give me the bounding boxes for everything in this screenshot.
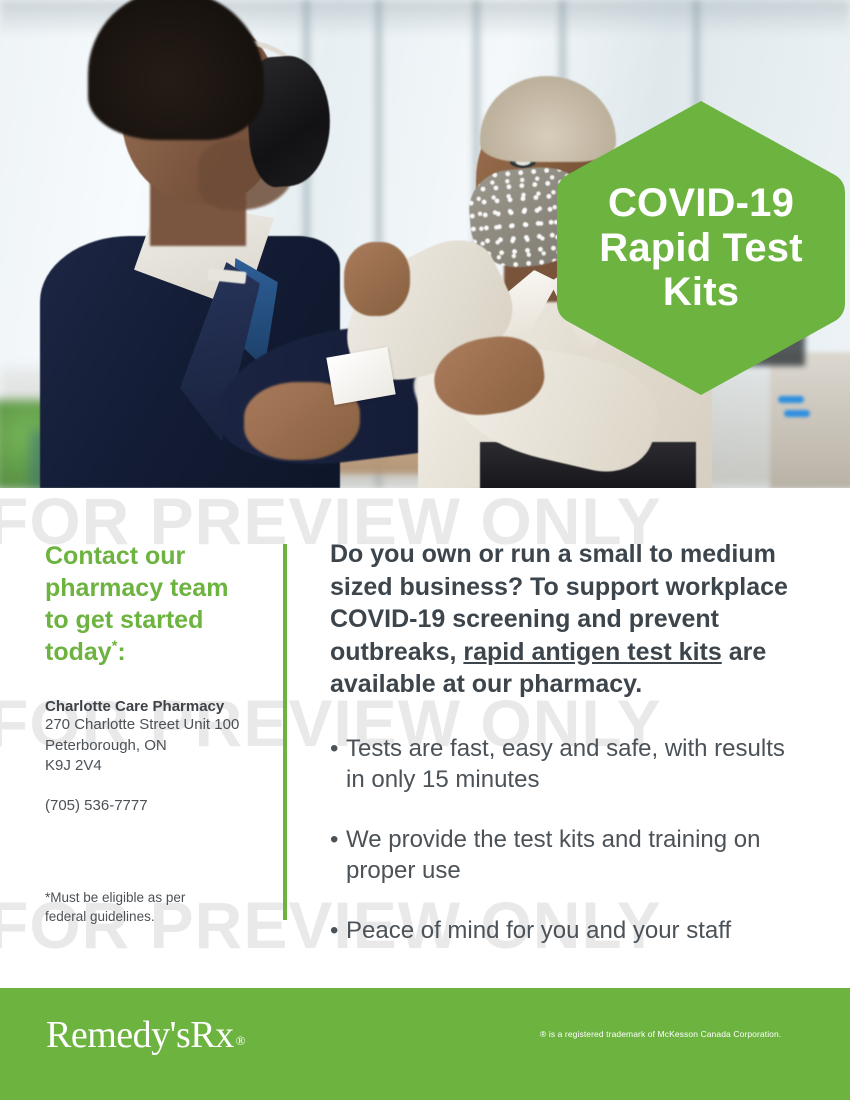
contact-heading-colon: : xyxy=(117,638,125,666)
businessman-figure xyxy=(30,0,360,488)
list-item: Peace of mind for you and your staff xyxy=(330,915,808,946)
content-area: Contact our pharmacy team to get started… xyxy=(0,488,850,988)
legal-disclaimer: *Must be eligible as per federal guideli… xyxy=(45,888,273,926)
badge-text-block: COVID-19 Rapid Test Kits xyxy=(557,99,845,397)
registered-mark-icon: ® xyxy=(236,1033,245,1048)
led-indicator xyxy=(778,396,804,403)
contact-heading-line-1: Contact our xyxy=(45,542,185,570)
contact-column: Contact our pharmacy team to get started… xyxy=(45,540,273,926)
address-line-2: Peterborough, ON xyxy=(45,737,167,754)
legal-line-1: *Must be eligible as per xyxy=(45,890,185,905)
logo-wordmark: Remedy'sRx xyxy=(46,1014,234,1056)
badge-line-2: Rapid Test xyxy=(599,226,803,271)
contact-heading-line-2: pharmacy team xyxy=(45,574,228,602)
column-divider xyxy=(283,544,287,920)
led-indicator xyxy=(784,410,810,417)
list-item: Tests are fast, easy and safe, with resu… xyxy=(330,733,808,795)
badge-line-1: COVID-19 xyxy=(608,181,794,226)
man-hair xyxy=(88,0,264,140)
benefit-bullet-list: Tests are fast, easy and safe, with resu… xyxy=(330,733,808,947)
lede-paragraph: Do you own or run a small to medium size… xyxy=(330,538,808,701)
pharmacy-name: Charlotte Care Pharmacy xyxy=(45,698,273,715)
address-line-3: K9J 2V4 xyxy=(45,757,102,774)
body-column: Do you own or run a small to medium size… xyxy=(330,538,808,975)
trademark-notice: ® is a registered trademark of McKesson … xyxy=(540,1029,781,1039)
contact-heading-line-4: today xyxy=(45,638,112,666)
badge-line-3: Kits xyxy=(663,270,739,315)
remedysrx-logo: Remedy'sRx® xyxy=(46,1016,243,1054)
footer-bar: Remedy'sRx® ® is a registered trademark … xyxy=(0,988,850,1100)
lede-underlined-phrase: rapid antigen test kits xyxy=(463,638,721,666)
pharmacy-phone[interactable]: (705) 536-7777 xyxy=(45,797,273,814)
woman-fist xyxy=(344,242,410,316)
pharmacy-address: 270 Charlotte Street Unit 100 Peterborou… xyxy=(45,715,273,777)
legal-line-2: federal guidelines. xyxy=(45,909,155,924)
list-item: We provide the test kits and training on… xyxy=(330,824,808,886)
address-line-1: 270 Charlotte Street Unit 100 xyxy=(45,716,239,733)
covid-test-kits-badge: COVID-19 Rapid Test Kits xyxy=(557,99,845,397)
contact-heading-line-3: to get started xyxy=(45,606,203,634)
contact-heading: Contact our pharmacy team to get started… xyxy=(45,540,273,668)
